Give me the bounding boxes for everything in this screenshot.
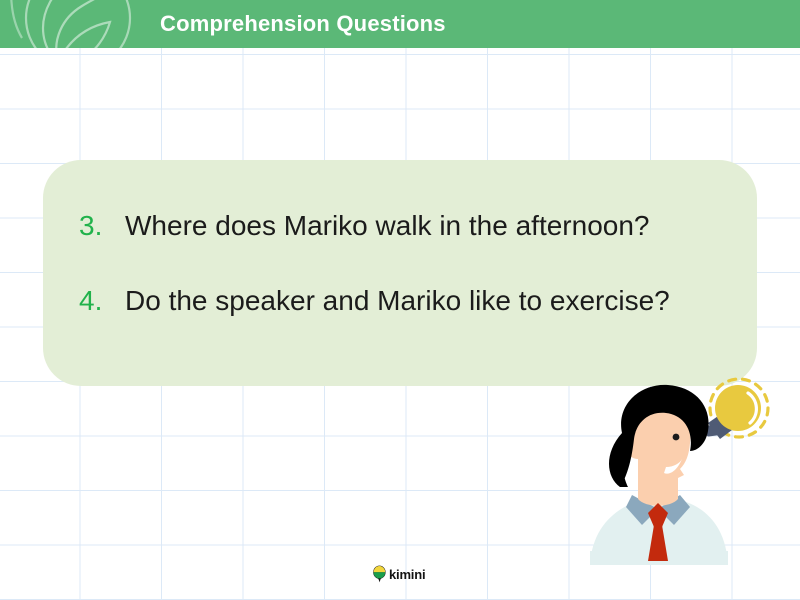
page-title: Comprehension Questions [160, 0, 446, 48]
question-number: 3. [79, 210, 125, 242]
kimini-balloon-icon [372, 565, 388, 583]
question-number: 4. [79, 285, 125, 317]
eye [673, 434, 680, 441]
leaf-swirl-icon [6, 0, 156, 48]
footer-brand-text: kimini [389, 567, 425, 582]
slide-canvas: Comprehension Questions 3. Where does Ma… [0, 0, 800, 600]
header-bar: Comprehension Questions [0, 0, 800, 48]
lightbulb-idea-icon [705, 379, 768, 439]
question-text: Where does Mariko walk in the afternoon? [125, 210, 650, 242]
question-item: 3. Where does Mariko walk in the afterno… [79, 210, 650, 242]
question-text: Do the speaker and Mariko like to exerci… [125, 285, 670, 317]
thinking-man-illustration [580, 375, 800, 575]
footer-brand-logo: kimini [372, 563, 425, 585]
question-card: 3. Where does Mariko walk in the afterno… [43, 160, 757, 386]
question-item: 4. Do the speaker and Mariko like to exe… [79, 285, 670, 317]
